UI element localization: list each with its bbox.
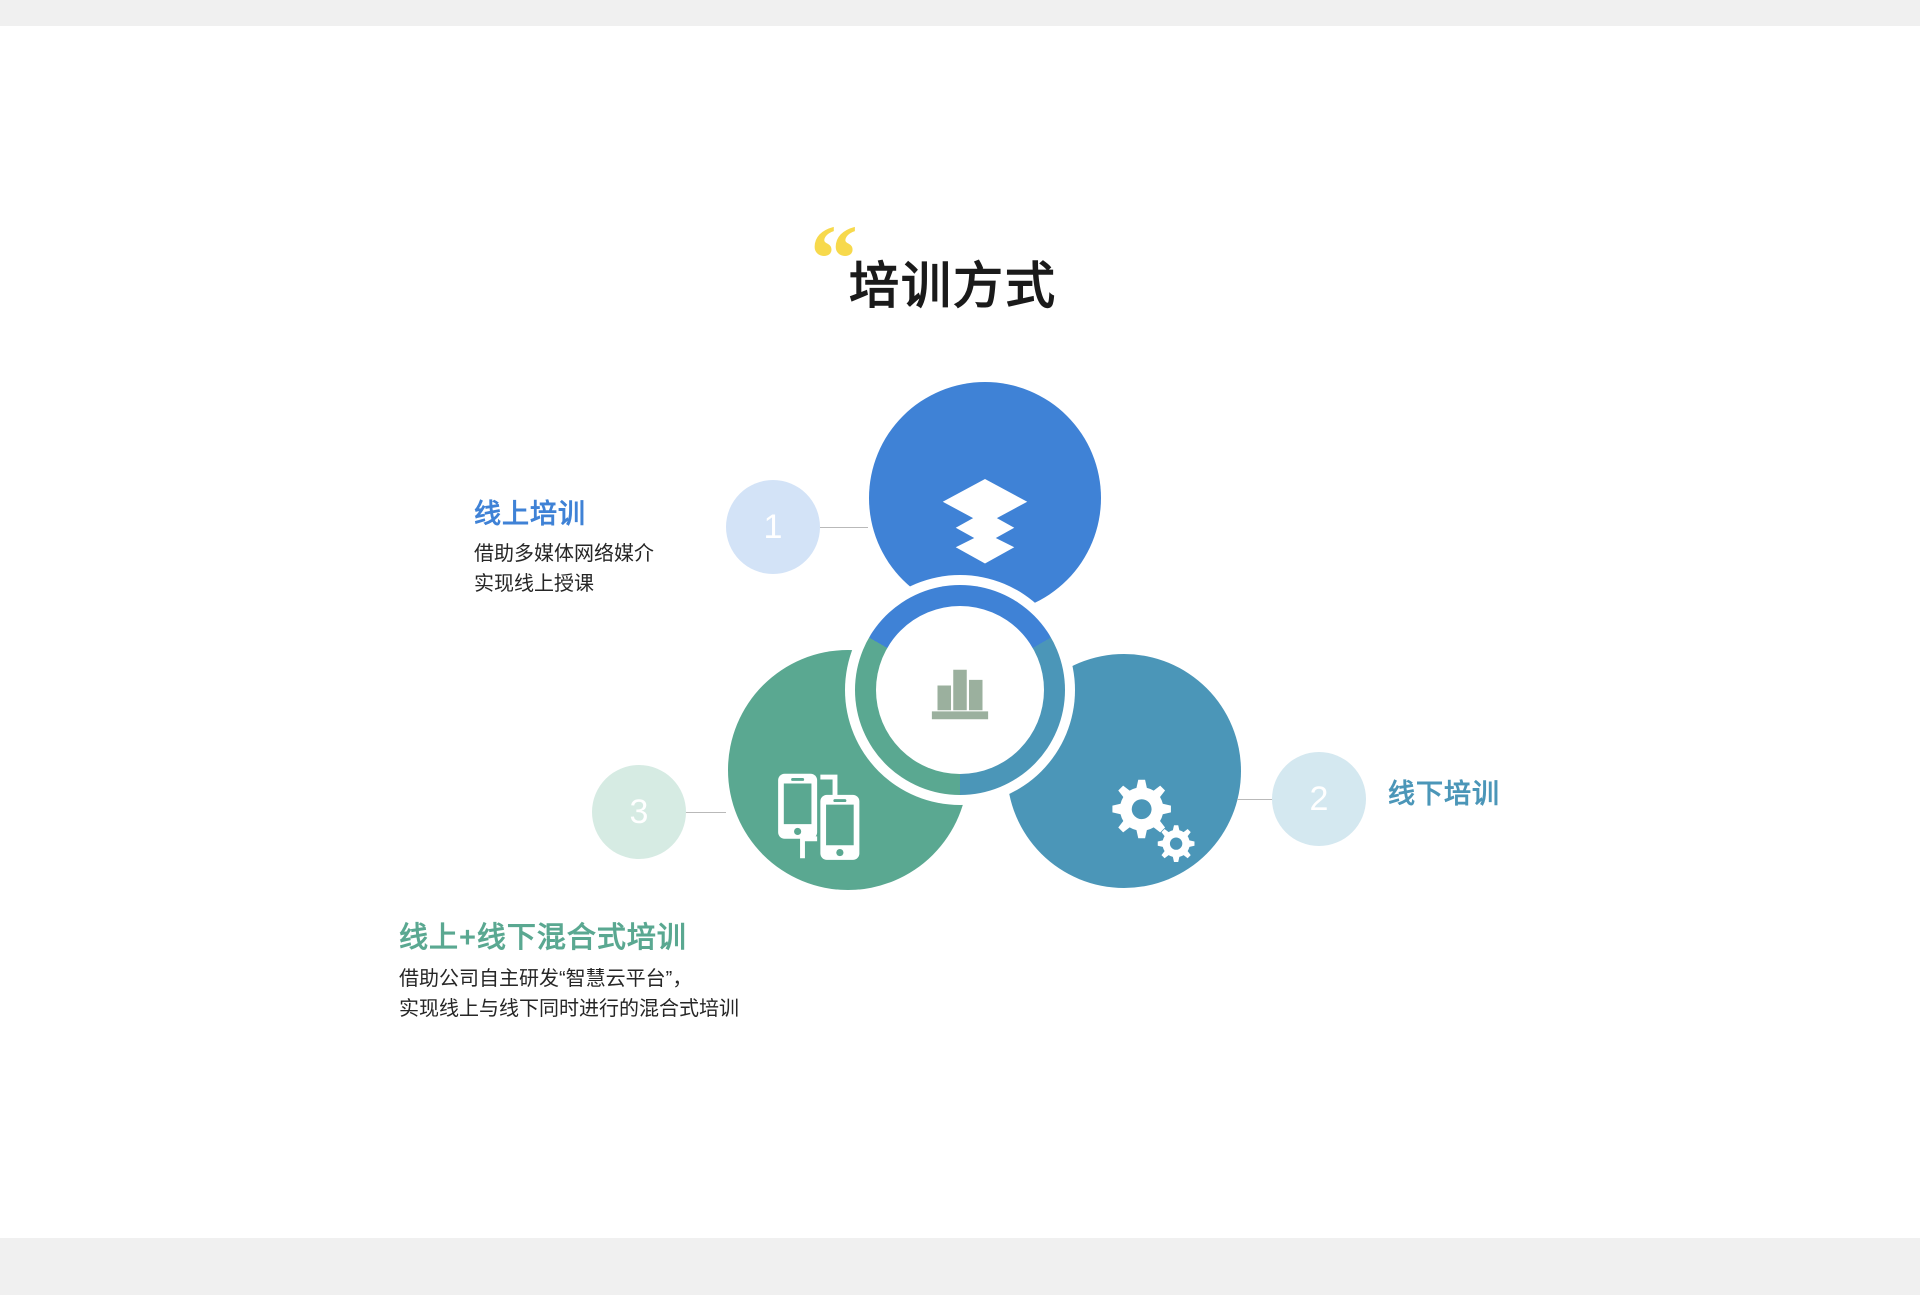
slide-canvas: “ 培训方式	[0, 26, 1920, 1238]
body-blended-line-2: 实现线上与线下同时进行的混合式培训	[399, 994, 739, 1024]
badge-3-label: 3	[630, 793, 649, 832]
bottom-band	[0, 1238, 1920, 1295]
center-donut	[845, 575, 1075, 805]
badge-number-3[interactable]: 3	[601, 774, 677, 850]
badge-2-label: 2	[1310, 780, 1329, 819]
body-online-line-1: 借助多媒体网络媒介	[474, 539, 654, 569]
top-band	[0, 0, 1920, 26]
connector-online	[820, 527, 868, 528]
venn-diagram: 1 2 3 线上培训 借助多媒体网络媒介 实现线上授课 线下培训 线上+线下混合…	[0, 26, 1920, 1238]
devices-icon	[770, 764, 874, 868]
body-blended-line-1: 借助公司自主研发“智慧云平台”，	[399, 964, 739, 994]
heading-offline: 线下培训	[1388, 772, 1500, 811]
badge-number-2[interactable]: 2	[1281, 761, 1357, 837]
heading-blended: 线上+线下混合式培训	[399, 914, 739, 956]
text-block-online: 线上培训 借助多媒体网络媒介 实现线上授课	[474, 492, 654, 599]
body-online: 借助多媒体网络媒介 实现线上授课	[474, 539, 654, 599]
gears-icon	[1096, 770, 1200, 874]
heading-online: 线上培训	[474, 492, 654, 531]
badge-1-label: 1	[764, 508, 783, 547]
bar-chart-icon	[924, 654, 996, 726]
badge-number-1[interactable]: 1	[735, 489, 811, 565]
text-block-blended: 线上+线下混合式培训 借助公司自主研发“智慧云平台”， 实现线上与线下同时进行的…	[399, 914, 739, 1024]
body-online-line-2: 实现线上授课	[474, 569, 654, 599]
layers-icon	[933, 466, 1037, 570]
center-donut-hole	[876, 606, 1044, 774]
text-block-offline: 线下培训	[1388, 772, 1500, 811]
body-blended: 借助公司自主研发“智慧云平台”， 实现线上与线下同时进行的混合式培训	[399, 964, 739, 1024]
